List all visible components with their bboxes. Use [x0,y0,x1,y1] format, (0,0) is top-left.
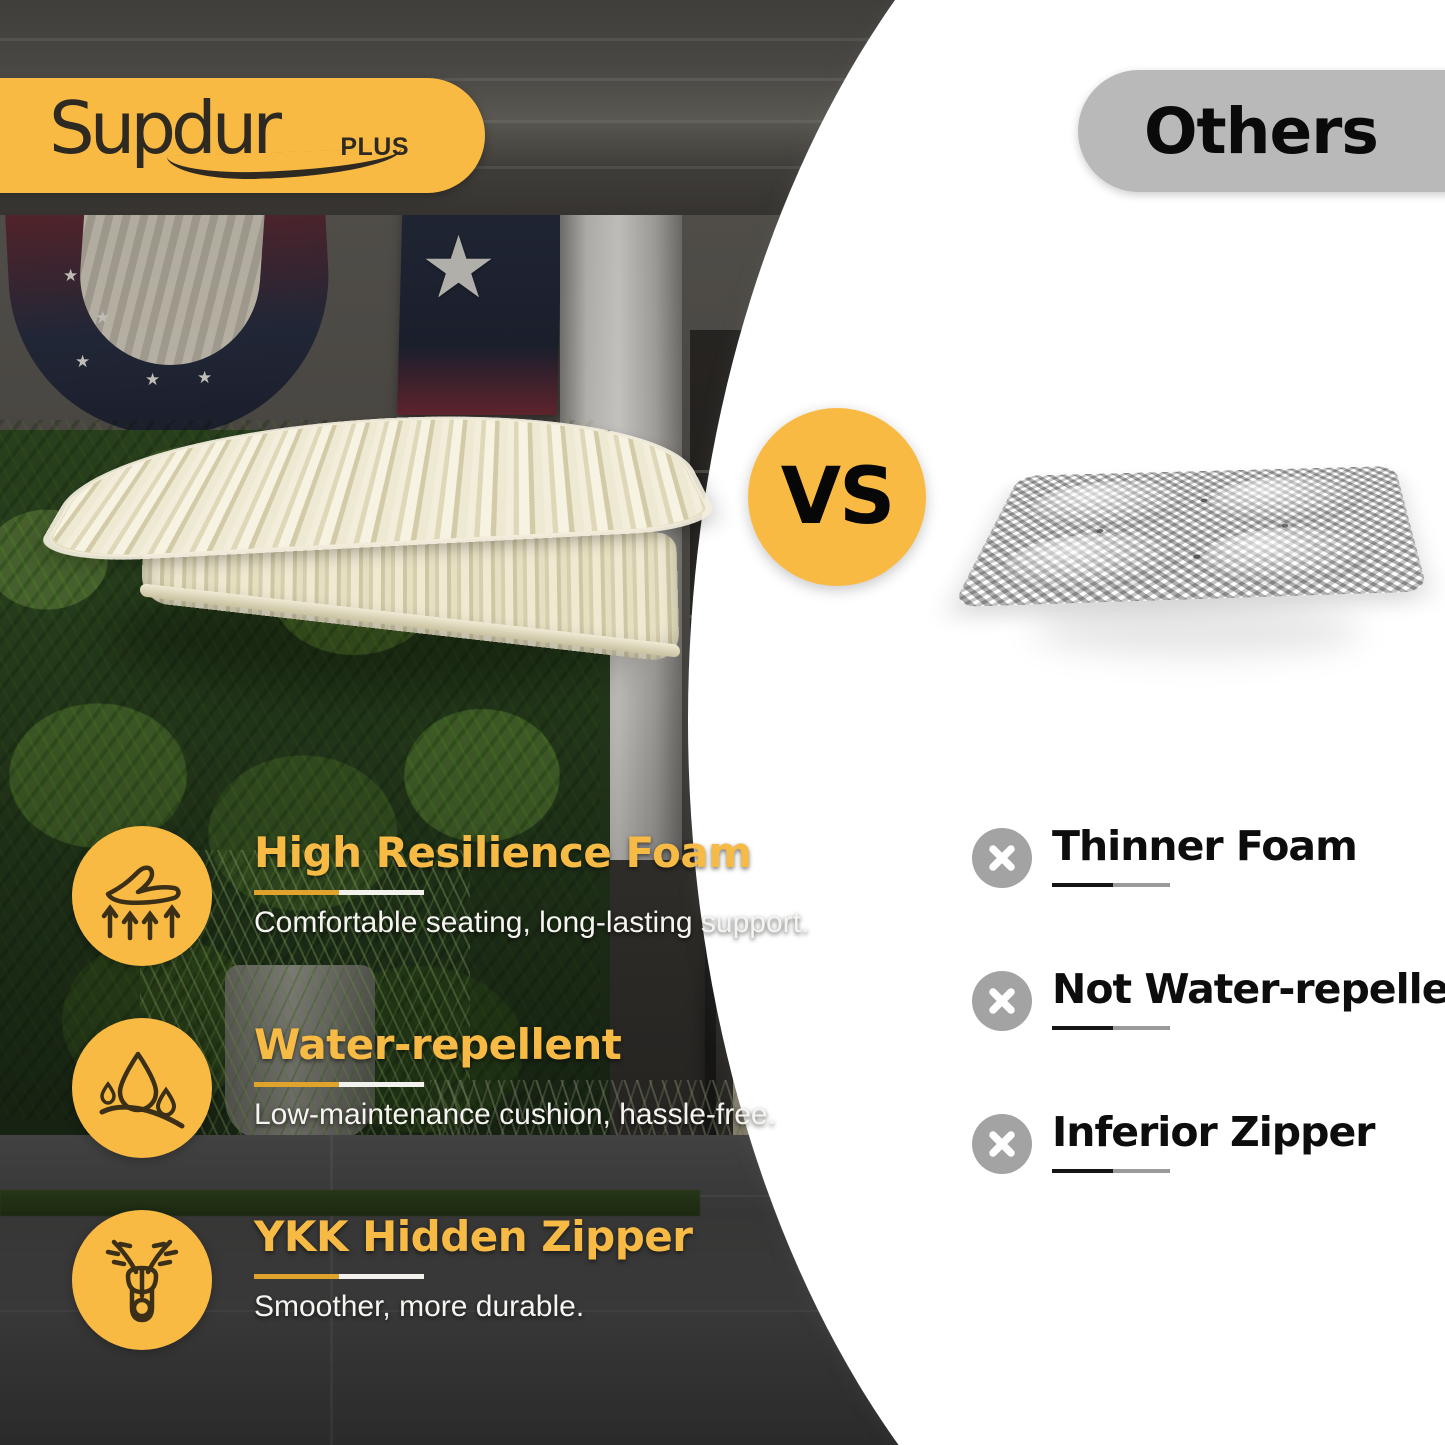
drawback-item: Thinner Foam [972,822,1432,965]
feature-divider [254,1274,424,1279]
drawback-title: Thinner Foam [1052,822,1432,870]
feature-item: Water-repellent Low-maintenance cushion,… [72,1010,772,1202]
competitor-label-pill: Others [1078,70,1445,192]
feature-text-block: YKK Hidden Zipper Smoother, more durable… [254,1212,774,1324]
zipper-pull-icon [72,1210,212,1350]
competitor-cushion-body [952,466,1427,607]
feature-subtitle: Comfortable seating, long-lasting suppor… [254,906,774,940]
hand-support-arrows-icon [72,826,212,966]
versus-badge: VS [748,408,926,586]
competitor-cushion-image [972,405,1432,680]
competitor-label: Others [1144,95,1378,168]
drawback-divider [1052,1169,1170,1173]
feature-text-block: Water-repellent Low-maintenance cushion,… [254,1020,774,1132]
drawback-title: Inferior Zipper [1052,1108,1432,1156]
feature-item: High Resilience Foam Comfortable seating… [72,818,772,1010]
feature-title: Water-repellent [254,1020,774,1069]
feature-item: YKK Hidden Zipper Smoother, more durable… [72,1202,772,1394]
drawback-divider [1052,883,1170,887]
drawback-text-block: Inferior Zipper [1052,1108,1432,1173]
comparison-infographic: ★ ★ ★ ★ ★ ★ [0,0,1445,1445]
feature-title: High Resilience Foam [254,828,774,877]
feature-title: YKK Hidden Zipper [254,1212,774,1261]
competitor-drawback-list: Thinner Foam Not Water-repellent [972,822,1432,1251]
brand-logo-pill: Supdur PLUS [0,78,485,193]
drawback-text-block: Thinner Foam [1052,822,1432,887]
circle-x-icon [972,1114,1032,1174]
product-feature-list: High Resilience Foam Comfortable seating… [72,818,772,1394]
drawback-item: Not Water-repellent [972,965,1432,1108]
water-droplet-repellent-icon [72,1018,212,1158]
feature-text-block: High Resilience Foam Comfortable seating… [254,828,774,940]
versus-label: VS [781,452,894,542]
circle-x-icon [972,828,1032,888]
drawback-item: Inferior Zipper [972,1108,1432,1251]
circle-x-icon [972,971,1032,1031]
feature-subtitle: Low-maintenance cushion, hassle-free. [254,1098,774,1132]
competitor-cushion-shadow [1032,605,1362,655]
feature-divider [254,890,424,895]
drawback-text-block: Not Water-repellent [1052,965,1432,1030]
drawback-divider [1052,1026,1170,1030]
feature-subtitle: Smoother, more durable. [254,1290,774,1324]
drawback-title: Not Water-repellent [1052,965,1432,1013]
supdur-logo: Supdur PLUS [49,88,399,184]
product-cushion-image [48,352,708,707]
feature-divider [254,1082,424,1087]
